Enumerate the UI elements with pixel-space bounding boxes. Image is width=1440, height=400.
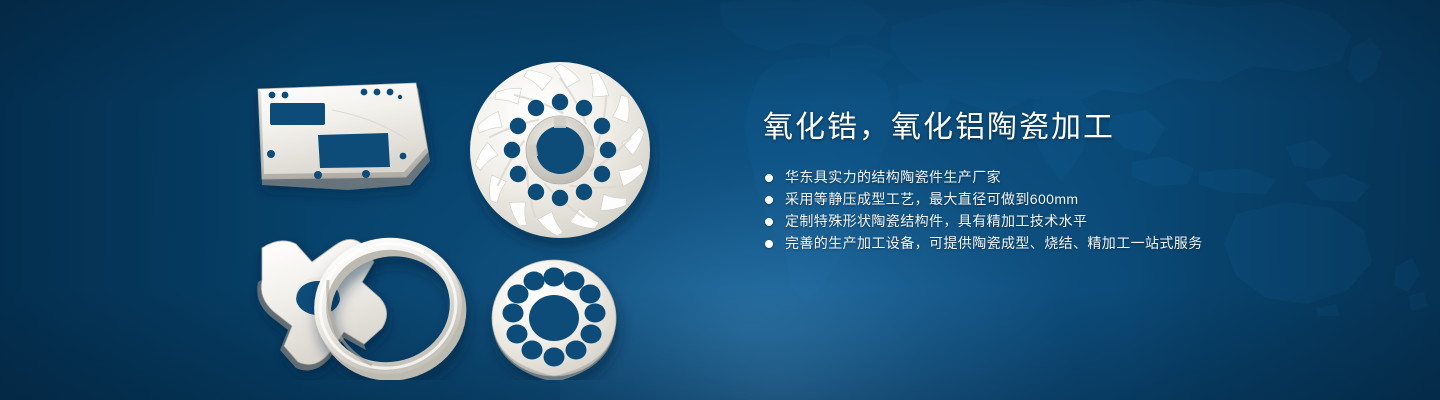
feature-list: 华东具实力的结构陶瓷件生产厂家 采用等静压成型工艺，最大直径可做到600mm 定…	[765, 170, 1383, 251]
product-photo-cluster	[240, 40, 660, 380]
product-ceramic-perforated-disc	[492, 260, 616, 380]
list-item-label: 采用等静压成型工艺，最大直径可做到600mm	[785, 191, 1078, 207]
banner-copy: 氧化锆，氧化铝陶瓷加工 华东具实力的结构陶瓷件生产厂家 采用等静压成型工艺，最大…	[763, 108, 1383, 251]
list-item-label: 完善的生产加工设备，可提供陶瓷成型、烧结、精加工一站式服务	[785, 235, 1203, 251]
list-item-label: 华东具实力的结构陶瓷件生产厂家	[785, 169, 1001, 185]
list-item: 华东具实力的结构陶瓷件生产厂家	[765, 170, 1383, 185]
product-ceramic-flat-plate	[258, 83, 430, 190]
product-ceramic-impeller-disc	[470, 62, 650, 238]
page-title: 氧化锆，氧化铝陶瓷加工	[763, 108, 1383, 148]
bullet-dot-icon	[765, 196, 773, 204]
list-item-label: 定制特殊形状陶瓷结构件，具有精加工技术水平	[785, 213, 1087, 229]
promo-banner: 氧化锆，氧化铝陶瓷加工 华东具实力的结构陶瓷件生产厂家 采用等静压成型工艺，最大…	[0, 0, 1440, 400]
bullet-dot-icon	[765, 218, 773, 226]
list-item: 完善的生产加工设备，可提供陶瓷成型、烧结、精加工一站式服务	[765, 236, 1383, 251]
list-item: 采用等静压成型工艺，最大直径可做到600mm	[765, 192, 1383, 207]
bullet-dot-icon	[765, 240, 773, 248]
list-item: 定制特殊形状陶瓷结构件，具有精加工技术水平	[765, 214, 1383, 229]
bullet-dot-icon	[765, 174, 773, 182]
